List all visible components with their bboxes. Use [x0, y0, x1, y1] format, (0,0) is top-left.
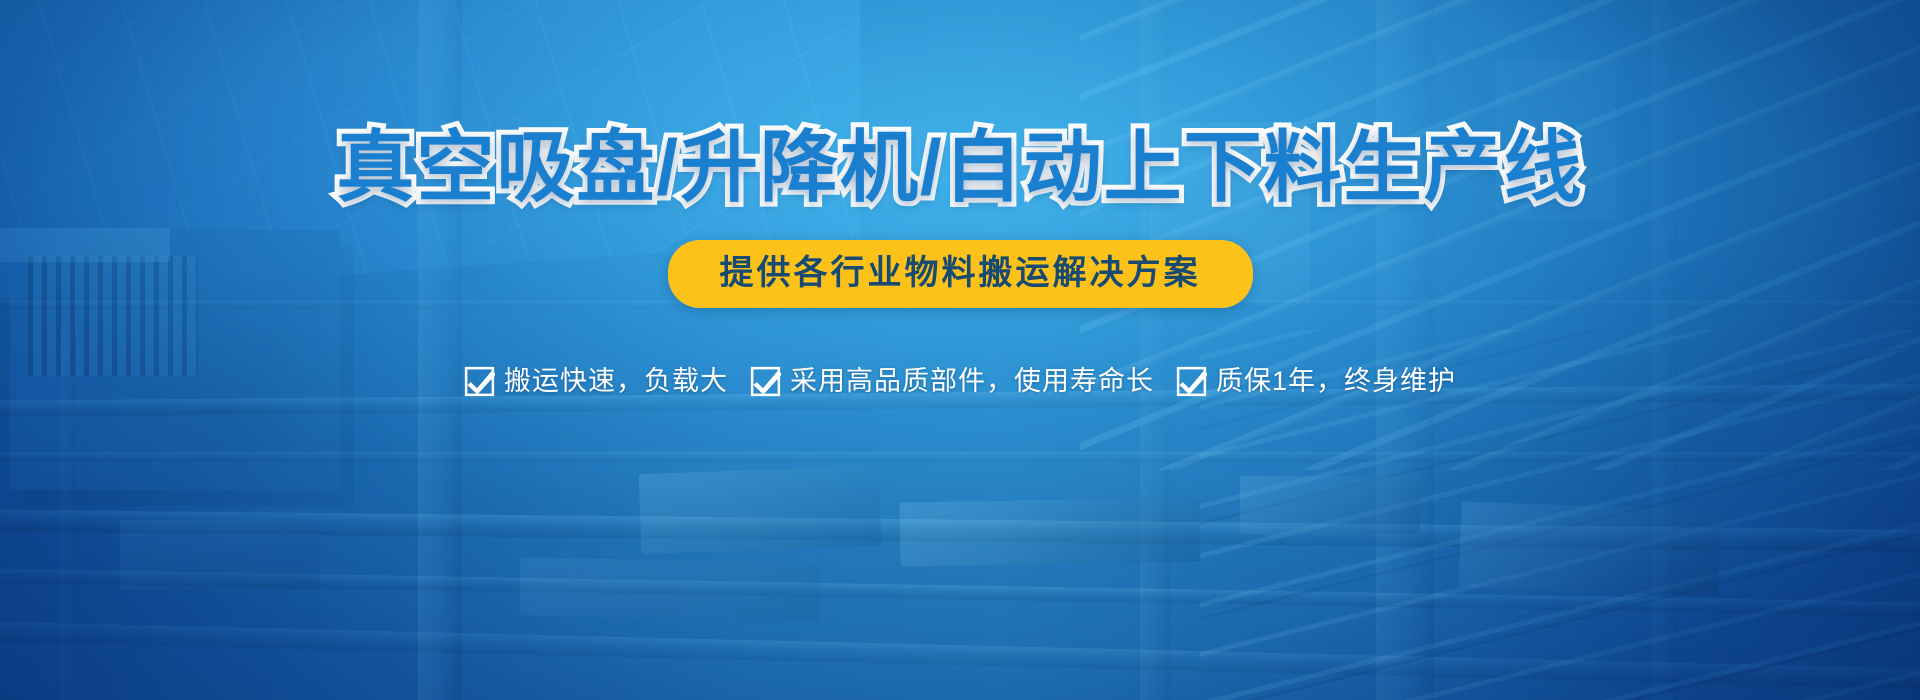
feature-label: 搬运快速，负载大	[504, 368, 728, 395]
feature-item: 质保1年，终身维护	[1176, 366, 1456, 397]
banner-content: 真空吸盘/升降机/自动上下料生产线 提供各行业物料搬运解决方案 搬运快速，负载大…	[0, 0, 1920, 700]
banner-subtitle-badge: 提供各行业物料搬运解决方案	[668, 240, 1253, 308]
feature-item: 采用高品质部件，使用寿命长	[750, 366, 1154, 397]
feature-list: 搬运快速，负载大 采用高品质部件，使用寿命长 质保1年，终身维护	[464, 366, 1456, 397]
feature-label: 采用高品质部件，使用寿命长	[790, 368, 1154, 395]
banner-headline: 真空吸盘/升降机/自动上下料生产线	[336, 128, 1583, 206]
checkbox-check-icon	[1176, 366, 1207, 397]
hero-banner: 真空吸盘/升降机/自动上下料生产线 提供各行业物料搬运解决方案 搬运快速，负载大…	[0, 0, 1920, 700]
feature-item: 搬运快速，负载大	[464, 366, 728, 397]
checkbox-check-icon	[750, 366, 781, 397]
feature-label: 质保1年，终身维护	[1216, 368, 1456, 395]
checkbox-check-icon	[464, 366, 495, 397]
